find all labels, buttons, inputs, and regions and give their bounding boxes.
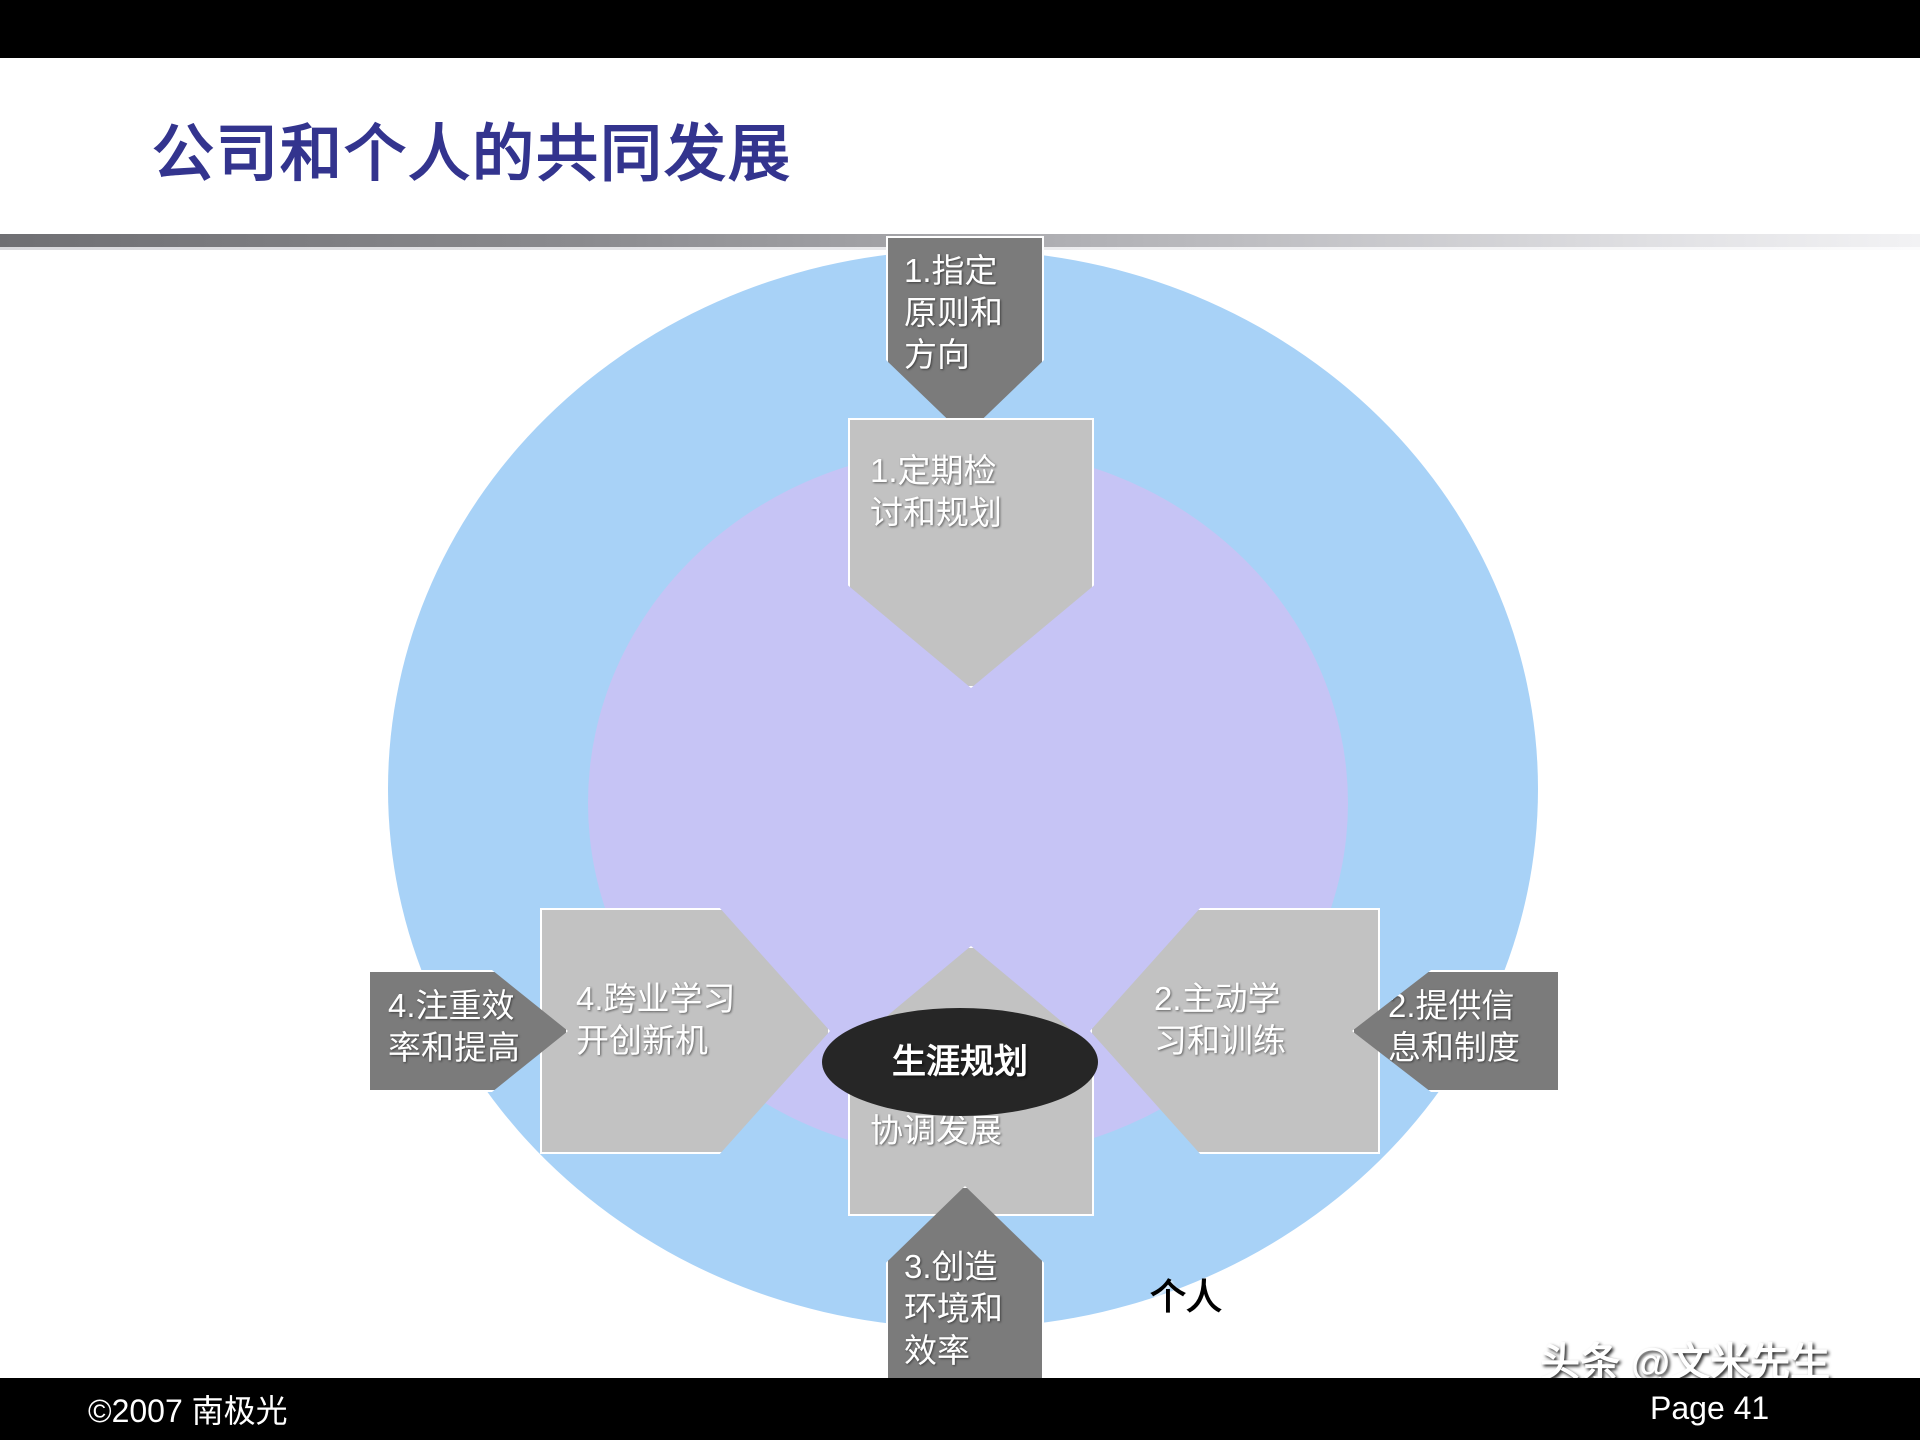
page-title: 公司和个人的共同发展 (152, 122, 792, 187)
slide-canvas: 公司和个人的共同发展 1.指定 原则和 方向 1.定期检 讨和规划 4.跨业学习… (0, 0, 1920, 1440)
center-node-career-planning[interactable]: 生涯规划 (822, 1008, 1098, 1116)
center-node-label: 生涯规划 (885, 1043, 1035, 1081)
arrow-label: 1.定期检 讨和规划 (870, 450, 1002, 534)
copyright-notice: ©2007 南极光 (88, 1386, 288, 1432)
arrow-label: 2.提供信 息和制度 (1388, 985, 1520, 1069)
arrow-label: 2.主动学 习和训练 (1154, 978, 1286, 1062)
diagram-stage: 1.指定 原则和 方向 1.定期检 讨和规划 4.跨业学习 开创新机 4.注重效… (0, 258, 1920, 1378)
letterbox-bar-top (0, 0, 1920, 58)
page-number: Page 41 (1650, 1390, 1769, 1427)
letterbox-bar-bottom (0, 1378, 1920, 1440)
arrow-label: 1.指定 原则和 方向 (904, 250, 1003, 377)
label-individual-region: 个人 (1150, 1268, 1222, 1320)
arrow-label: 3.创造 环境和 效率 (904, 1246, 1003, 1373)
arrow-label: 4.跨业学习 开创新机 (576, 978, 736, 1062)
arrow-label: 4.注重效 率和提高 (388, 985, 520, 1069)
